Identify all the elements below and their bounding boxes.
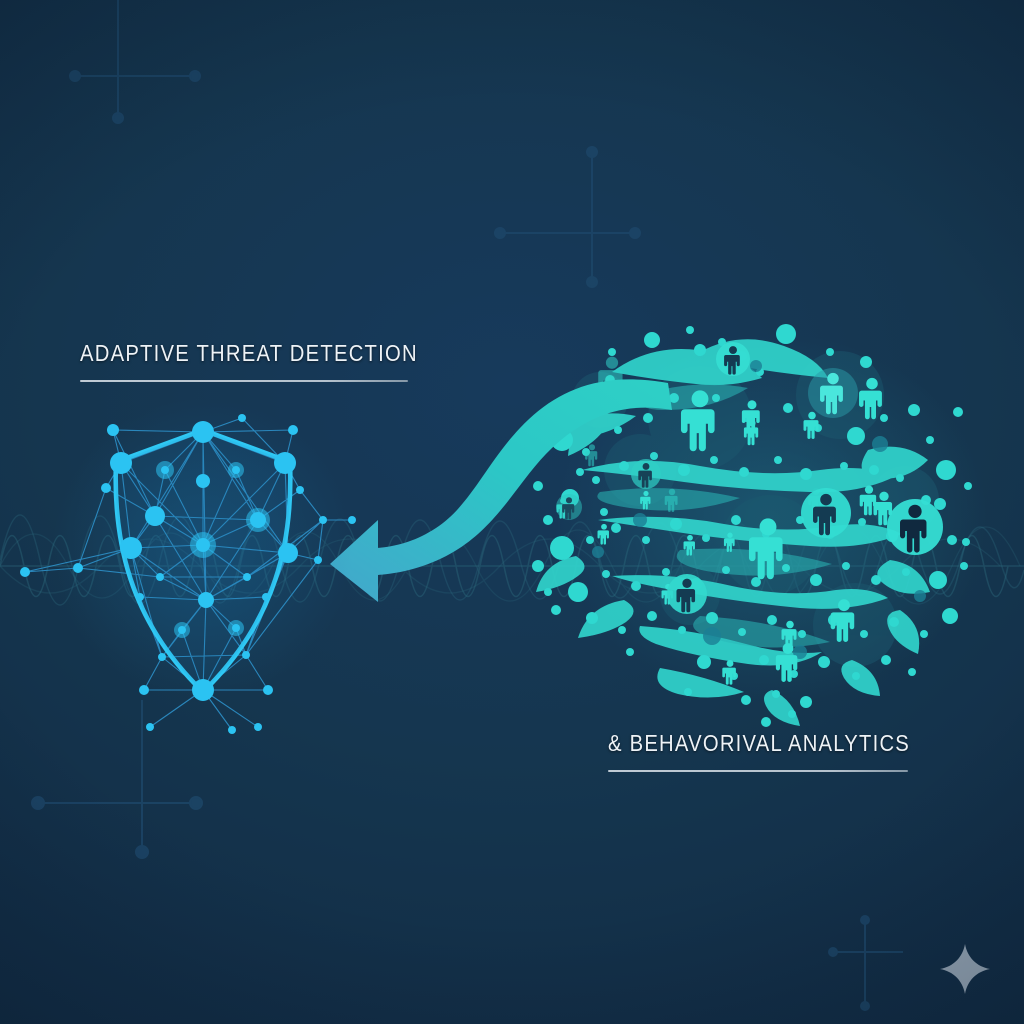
label-left-rule xyxy=(80,380,408,382)
label-adaptive-threat-detection: ADAPTIVE THREAT DETECTION xyxy=(80,340,464,382)
label-right-rule xyxy=(608,770,908,772)
network-shield xyxy=(0,0,1024,1024)
label-left-text: ADAPTIVE THREAT DETECTION xyxy=(80,340,418,367)
sparkle-star-icon xyxy=(938,942,992,996)
label-behavioral-analytics: & BEHAVORIVAL ANALYTICS xyxy=(608,730,951,772)
poster-canvas: ADAPTIVE THREAT DETECTION & BEHAVORIVAL … xyxy=(0,0,1024,1024)
label-right-text: & BEHAVORIVAL ANALYTICS xyxy=(608,730,910,757)
